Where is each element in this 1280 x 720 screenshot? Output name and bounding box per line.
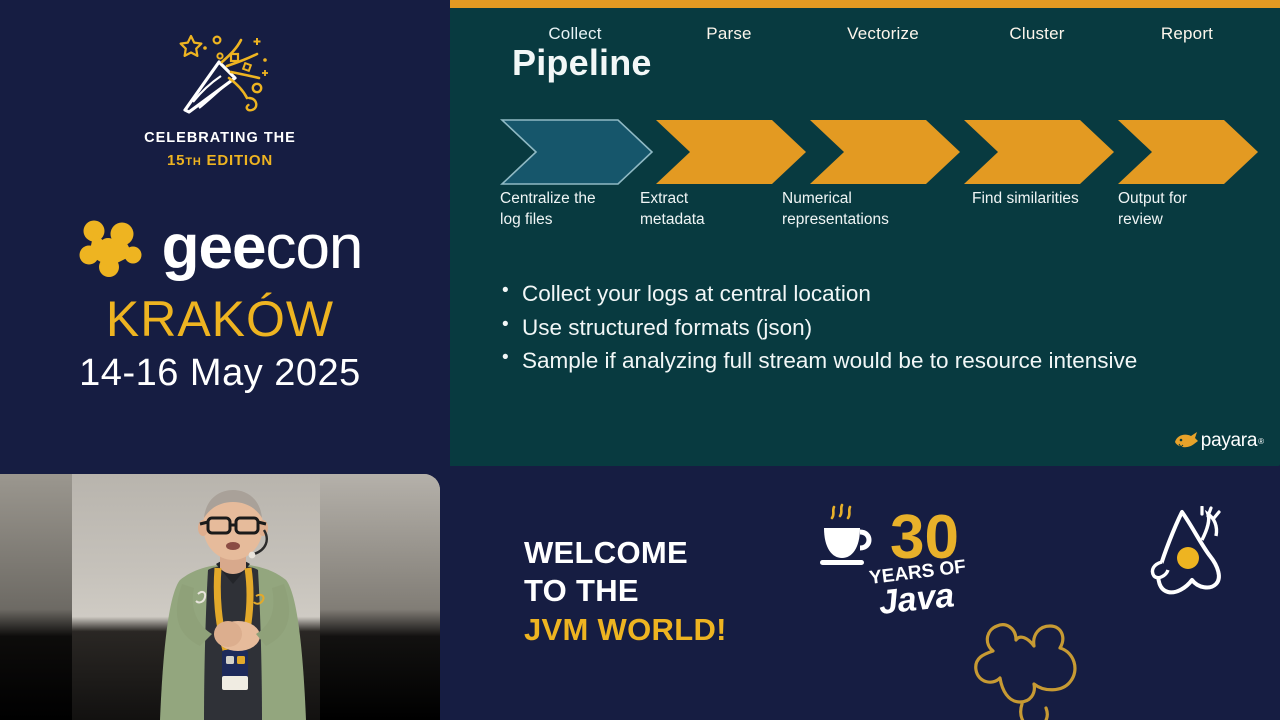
slide-bullet-list: Collect your logs at central location Us… (498, 278, 1138, 379)
conference-branding-panel: CELEBRATING THE 15TH EDITION geecon KRAK… (0, 0, 440, 470)
pipeline-diagram (500, 118, 1260, 186)
payara-wordmark: payara (1201, 430, 1257, 452)
geecon-splat-outline-icon (970, 620, 1110, 720)
conference-city: KRAKÓW (106, 293, 334, 346)
bullet-item: Collect your logs at central location (498, 278, 1138, 311)
pipeline-step-cluster[interactable] (964, 120, 1114, 184)
pipeline-caption-4: Output for review (1118, 189, 1268, 230)
welcome-line-1: WELCOME (524, 534, 727, 572)
welcome-line-3: JVM WORLD! (524, 611, 727, 649)
edition-label: 15TH EDITION (167, 152, 273, 169)
party-popper-icon (165, 26, 275, 118)
payara-registered-mark: ® (1258, 437, 1264, 446)
geecon-splat-icon (78, 217, 146, 279)
geecon-word-bold: gee (162, 213, 266, 282)
pipeline-label-3: Cluster (962, 0, 1112, 68)
payara-logo: payara ® (1173, 430, 1264, 452)
pipeline-caption-0: Centralize the log files (500, 189, 650, 230)
geecon-word-light: con (265, 213, 362, 282)
stage-right-shadow (320, 474, 440, 720)
bullet-item: Sample if analyzing full stream would be… (498, 345, 1138, 378)
pipeline-step-vectorize[interactable] (810, 120, 960, 184)
pipeline-label-4: Report (1114, 0, 1260, 68)
edition-word: EDITION (207, 152, 273, 169)
java-wordmark: Java (877, 576, 956, 620)
edition-number: 15 (167, 152, 185, 169)
presentation-slide: Pipeline Collect Parse Vectorize Cluster… (450, 0, 1280, 466)
speaker-video-thumbnail[interactable] (0, 474, 440, 720)
conference-dates: 14-16 May 2025 (79, 352, 361, 395)
pipeline-step-collect[interactable] (502, 120, 652, 184)
java-30-years-badge: 30 YEARS OF Java (818, 502, 988, 620)
pipeline-label-1: Parse (654, 0, 804, 68)
geecon-logo: geecon (0, 217, 440, 279)
payara-fish-icon (1173, 431, 1199, 451)
slide-accent-bar (450, 0, 1280, 8)
geecon-wordmark: geecon (162, 220, 363, 276)
pipeline-step-report[interactable] (1118, 120, 1258, 184)
pipeline-caption-3: Find similarities (972, 189, 1142, 210)
stage-left-shadow (0, 474, 72, 720)
celebrating-label: CELEBRATING THE (144, 130, 296, 146)
welcome-line-2: TO THE (524, 572, 727, 610)
coffee-cup-icon (820, 505, 869, 565)
pipeline-captions: Centralize the log files Extract metadat… (500, 189, 1270, 237)
welcome-heading: WELCOME TO THE JVM WORLD! (524, 534, 727, 649)
java-duke-mascot-icon (1142, 506, 1238, 598)
pipeline-caption-2: Numerical representations (782, 189, 952, 230)
pipeline-step-parse[interactable] (656, 120, 806, 184)
pipeline-caption-1: Extract metadata (640, 189, 790, 230)
presentation-stage: CELEBRATING THE 15TH EDITION geecon KRAK… (0, 0, 1280, 720)
bullet-item: Use structured formats (json) (498, 312, 1138, 345)
pipeline-label-2: Vectorize (808, 0, 958, 68)
presenter-figure (138, 484, 328, 720)
welcome-panel: WELCOME TO THE JVM WORLD! 30 YEARS OF Ja… (450, 470, 1280, 720)
edition-suffix: TH (185, 156, 201, 168)
slide-title: Pipeline (512, 42, 652, 84)
